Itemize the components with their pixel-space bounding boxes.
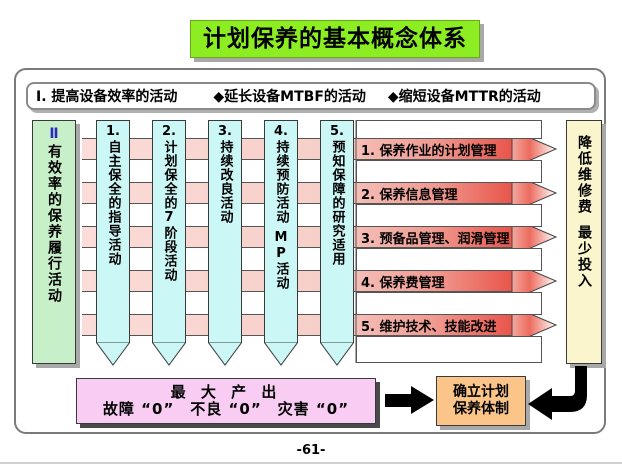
banner-label-text: 3. 预备品管理、润滑管理	[361, 228, 510, 247]
slide-title: 计划保养的基本概念体系	[190, 20, 480, 58]
activity-column-body: 5. 预知保障的研究适用	[320, 120, 354, 342]
slide-title-text: 计划保养的基本概念体系	[203, 28, 467, 51]
page-number: -61-	[0, 443, 622, 458]
establish-plan-box: 确立计划 保养体制	[436, 376, 526, 426]
activity-column-label: 预知保障的研究适用	[331, 140, 344, 266]
activity-column-number: 1.	[106, 125, 120, 139]
activity-column-3: 3. 持续改良活动	[208, 120, 242, 370]
banner-label-4: 4. 保养费管理	[356, 270, 542, 292]
banner-gap-box	[356, 292, 542, 315]
header-mttr-activity: ◆缩短设备MTTR的活动	[388, 86, 541, 106]
activity-column-number: 5.	[330, 125, 344, 139]
banner-gap-box	[356, 160, 542, 183]
right-column-line1: 降低维修费	[577, 135, 591, 215]
left-column-roman-numeral: Ⅱ	[49, 127, 58, 142]
banner-label-1: 1. 保养作业的计划管理	[356, 138, 542, 160]
header-bar: I. 提高设备效率的活动 ◆延长设备MTBF的活动 ◆缩短设备MTTR的活动	[26, 82, 596, 110]
banner-label-5: 5. 维护技术、技能改进	[356, 314, 542, 336]
activity-column-body: 3. 持续改良活动	[208, 120, 242, 342]
right-column-cost-reduction: 降低维修费 最少投入	[566, 120, 602, 364]
activity-column-body: 1. 自主保全的指导活动	[96, 120, 130, 342]
activity-column-arrowhead	[152, 342, 186, 366]
header-main-activity: I. 提高设备效率的活动	[36, 86, 177, 106]
activity-column-4: 4. 持续预防活动 MP活动	[264, 120, 298, 370]
footer-divider	[0, 462, 622, 464]
activity-column-2: 2. 计划保全的7阶段活动	[152, 120, 186, 370]
max-output-line2: 故障 “0” 不良 “0” 灾害 “0”	[103, 401, 349, 418]
banner-label-3: 3. 预备品管理、润滑管理	[356, 226, 542, 248]
activity-column-arrowhead	[320, 342, 354, 366]
max-output-line1: 最 大 产 出	[171, 384, 282, 401]
max-output-box: 最 大 产 出 故障 “0” 不良 “0” 灾害 “0”	[76, 378, 376, 424]
banner-label-text: 5. 维护技术、技能改进	[361, 316, 497, 335]
establish-plan-line1: 确立计划	[453, 384, 509, 402]
activity-column-number: 3.	[218, 125, 232, 139]
activity-column-label: 持续改良活动	[219, 140, 232, 224]
banner-label-text: 1. 保养作业的计划管理	[361, 140, 497, 159]
banner-gap-box	[356, 336, 542, 363]
left-column-label: 有效率的保养履行活动	[47, 144, 61, 304]
activity-column-sublabel: MP活动	[275, 230, 288, 290]
activity-column-1: 1. 自主保全的指导活动	[96, 120, 130, 370]
banner-gap-box	[356, 204, 542, 227]
left-column-efficient-maintenance: Ⅱ 有效率的保养履行活动	[32, 120, 76, 364]
activity-column-label: 自主保全的指导活动	[107, 140, 120, 266]
activity-column-body: 2. 计划保全的7阶段活动	[152, 120, 186, 342]
activity-column-body: 4. 持续预防活动 MP活动	[264, 120, 298, 342]
activity-column-arrowhead	[96, 342, 130, 366]
activity-column-5: 5. 预知保障的研究适用	[320, 120, 354, 370]
establish-plan-line2: 保养体制	[453, 401, 509, 419]
activity-column-arrowhead	[208, 342, 242, 366]
activity-column-label: 计划保全的7阶段活动	[163, 140, 176, 282]
header-mtbf-activity: ◆延长设备MTBF的活动	[213, 86, 365, 106]
activity-column-arrowhead	[264, 342, 298, 366]
activity-column-number: 4.	[274, 125, 288, 139]
right-column-line2: 最少投入	[577, 225, 591, 289]
activity-column-label: 持续预防活动	[275, 140, 288, 224]
banner-label-text: 4. 保养费管理	[361, 272, 445, 291]
banner-gap-box	[356, 120, 542, 139]
banner-label-2: 2. 保养信息管理	[356, 182, 542, 204]
banner-label-text: 2. 保养信息管理	[361, 184, 458, 203]
banner-gap-box	[356, 248, 542, 271]
activity-column-number: 2.	[162, 125, 176, 139]
